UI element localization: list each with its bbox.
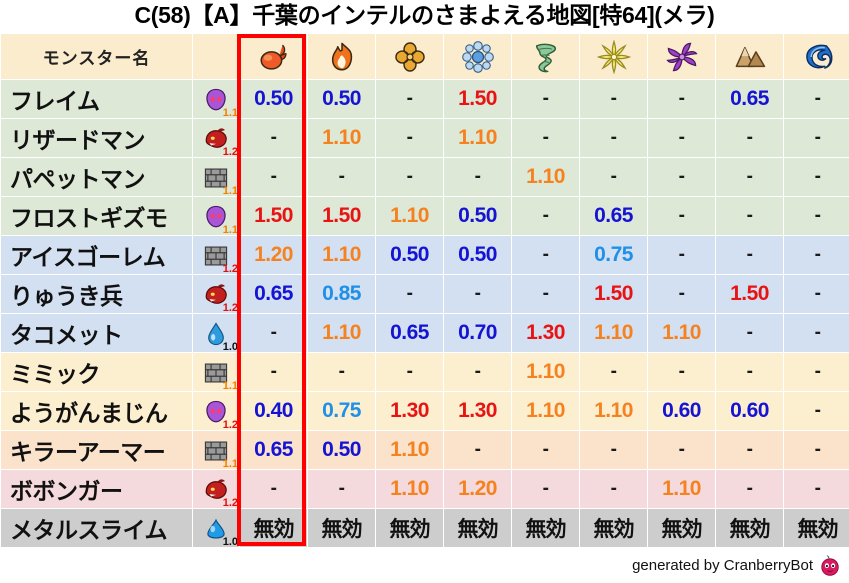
table-row: キラーアーマー 1.1 0.65 0.50 1.10 - - - - - - (1, 431, 849, 469)
monster-name: パペットマン (1, 158, 192, 196)
column-header-doruma[interactable] (648, 34, 715, 79)
type-multiplier: 1.1 (223, 225, 238, 236)
resist-cell: 1.10 (376, 470, 443, 508)
resist-cell: 0.75 (580, 236, 647, 274)
resist-cell: 0.50 (240, 80, 307, 118)
mountain-icon (733, 40, 767, 74)
resist-cell: - (716, 197, 783, 235)
column-header-io[interactable] (376, 34, 443, 79)
monster-name: タコメット (1, 314, 192, 352)
monster-name: リザードマン (1, 119, 192, 157)
resist-cell: - (784, 314, 849, 352)
resist-cell: - (648, 158, 715, 196)
wave-icon (801, 40, 835, 74)
resist-cell: 0.50 (444, 236, 511, 274)
resist-cell: - (580, 80, 647, 118)
resist-cell: 1.10 (512, 158, 579, 196)
table-header-row: モンスター名 (1, 34, 849, 79)
resistance-table: モンスター名 (0, 33, 849, 548)
monster-name: アイスゴーレム (1, 236, 192, 274)
resist-cell: - (240, 470, 307, 508)
resist-cell: - (648, 119, 715, 157)
column-header-mera[interactable] (240, 34, 307, 79)
table-row: ようがんまじん 1.2 0.40 0.75 1.30 1.30 1.10 1.1… (1, 392, 849, 430)
monster-name: りゅうき兵 (1, 275, 192, 313)
monster-name: キラーアーマー (1, 431, 192, 469)
resist-cell: - (580, 119, 647, 157)
column-header-dein[interactable] (580, 34, 647, 79)
type-multiplier: 1.2 (223, 498, 238, 509)
column-header-jibaria[interactable] (716, 34, 783, 79)
table-row: フレイム 1.1 0.50 0.50 - 1.50 - - - 0.65 - (1, 80, 849, 118)
monster-type-cell: 1.0 (193, 314, 239, 352)
monster-resistance-chart: C(58)【A】千葉のインテルのさまよえる地図[特64](メラ) モンスター名 (0, 0, 849, 583)
type-multiplier: 1.1 (223, 108, 238, 119)
resist-cell: - (716, 353, 783, 391)
resist-cell: - (716, 431, 783, 469)
resist-cell: - (512, 236, 579, 274)
resist-cell: 0.60 (648, 392, 715, 430)
column-header-bagi[interactable] (512, 34, 579, 79)
monster-type-cell: 1.2 (193, 119, 239, 157)
resist-cell: - (716, 470, 783, 508)
resist-cell: 1.20 (444, 470, 511, 508)
footer-text: generated by CranberryBot (632, 557, 813, 574)
resist-cell: - (716, 119, 783, 157)
resist-cell: 1.30 (376, 392, 443, 430)
resist-cell: 1.10 (648, 470, 715, 508)
resist-cell: 無効 (716, 509, 783, 547)
table-body: フレイム 1.1 0.50 0.50 - 1.50 - - - 0.65 - リ… (1, 80, 849, 547)
resist-cell: 1.50 (580, 275, 647, 313)
resist-cell: - (648, 353, 715, 391)
tornado-icon (529, 40, 563, 74)
resist-cell: 0.70 (444, 314, 511, 352)
meteor-fire-icon (257, 40, 291, 74)
resist-cell: - (784, 470, 849, 508)
resist-cell: 1.10 (648, 314, 715, 352)
page-title: C(58)【A】千葉のインテルのさまよえる地図[特64](メラ) (0, 0, 849, 33)
resist-cell: 無効 (512, 509, 579, 547)
monster-type-cell: 1.2 (193, 392, 239, 430)
resist-cell: 無効 (784, 509, 849, 547)
snowflake-icon (461, 40, 495, 74)
burst-icon (393, 40, 427, 74)
resist-cell: 0.60 (716, 392, 783, 430)
resist-cell: - (784, 392, 849, 430)
resist-cell: - (444, 431, 511, 469)
resist-cell: 1.20 (240, 236, 307, 274)
column-header-hyado[interactable] (444, 34, 511, 79)
resist-cell: - (308, 353, 375, 391)
resist-cell: 0.50 (444, 197, 511, 235)
resist-cell: - (716, 236, 783, 274)
monster-type-cell: 1.1 (193, 158, 239, 196)
resist-cell: - (784, 236, 849, 274)
resist-cell: - (240, 158, 307, 196)
resist-cell: - (444, 275, 511, 313)
table-row: フロストギズモ 1.1 1.50 1.50 1.10 0.50 - 0.65 -… (1, 197, 849, 235)
type-multiplier: 1.2 (223, 264, 238, 275)
type-multiplier: 1.2 (223, 303, 238, 314)
resist-cell: 1.10 (512, 392, 579, 430)
type-multiplier: 1.1 (223, 186, 238, 197)
column-header-monster-name: モンスター名 (1, 34, 192, 79)
resist-cell: - (784, 275, 849, 313)
monster-name: ボボンガー (1, 470, 192, 508)
resist-cell: - (308, 158, 375, 196)
resist-cell: - (308, 470, 375, 508)
resist-cell: - (512, 80, 579, 118)
monster-type-cell: 1.1 (193, 80, 239, 118)
monster-name: フレイム (1, 80, 192, 118)
monster-type-cell: 1.1 (193, 353, 239, 391)
resist-cell: 0.85 (308, 275, 375, 313)
resist-cell: - (784, 158, 849, 196)
type-multiplier: 1.1 (223, 459, 238, 470)
resist-cell: - (784, 119, 849, 157)
resist-cell: - (376, 158, 443, 196)
resist-cell: - (784, 353, 849, 391)
type-multiplier: 1.0 (223, 537, 238, 548)
resist-cell: 無効 (376, 509, 443, 547)
resist-cell: 0.65 (240, 275, 307, 313)
resist-cell: 0.65 (376, 314, 443, 352)
resist-cell: - (444, 353, 511, 391)
flame-icon (325, 40, 359, 74)
resist-cell: - (580, 158, 647, 196)
resist-cell: 1.50 (716, 275, 783, 313)
wind-swirl-icon (665, 40, 699, 74)
resist-cell: - (648, 80, 715, 118)
resist-cell: - (376, 353, 443, 391)
resist-cell: - (784, 431, 849, 469)
resist-cell: - (444, 158, 511, 196)
table-row: ミミック 1.1 - - - - 1.10 - - - - (1, 353, 849, 391)
resist-cell: 1.10 (444, 119, 511, 157)
resist-cell: - (376, 80, 443, 118)
resist-cell: - (512, 119, 579, 157)
resist-cell: 1.10 (376, 197, 443, 235)
column-header-type-spacer (193, 34, 239, 79)
resist-cell: 1.50 (444, 80, 511, 118)
resist-cell: - (376, 275, 443, 313)
resist-cell: - (716, 158, 783, 196)
resist-cell: - (580, 431, 647, 469)
column-header-medoroa[interactable] (784, 34, 849, 79)
resist-cell: 無効 (444, 509, 511, 547)
resist-cell: - (240, 119, 307, 157)
resist-cell: 1.30 (512, 314, 579, 352)
resist-cell: 0.65 (716, 80, 783, 118)
resist-cell: - (512, 431, 579, 469)
resist-cell: 無効 (648, 509, 715, 547)
monster-type-cell: 1.2 (193, 236, 239, 274)
resist-cell: - (512, 275, 579, 313)
cranberry-icon (819, 554, 841, 576)
monster-name: メタルスライム (1, 509, 192, 547)
monster-name: ミミック (1, 353, 192, 391)
resist-cell: - (648, 236, 715, 274)
monster-name: フロストギズモ (1, 197, 192, 235)
resist-cell: 1.10 (512, 353, 579, 391)
resist-cell: - (580, 470, 647, 508)
table-row: メタルスライム 1.0 無効 無効 無効 無効 無効 無効 無効 無効 無効 (1, 509, 849, 547)
resist-cell: 0.50 (308, 431, 375, 469)
resist-cell: 無効 (240, 509, 307, 547)
monster-type-cell: 1.2 (193, 470, 239, 508)
resist-cell: - (240, 314, 307, 352)
table-row: アイスゴーレム 1.2 1.20 1.10 0.50 0.50 - 0.75 -… (1, 236, 849, 274)
resist-cell: 1.10 (580, 314, 647, 352)
resist-cell: 1.50 (308, 197, 375, 235)
resist-cell: - (376, 119, 443, 157)
resist-cell: 1.50 (240, 197, 307, 235)
resist-cell: - (512, 197, 579, 235)
resist-cell: - (716, 314, 783, 352)
resist-cell: - (240, 353, 307, 391)
resist-cell: 1.10 (308, 236, 375, 274)
table-row: リザードマン 1.2 - 1.10 - 1.10 - - - - - (1, 119, 849, 157)
monster-type-cell: 1.1 (193, 197, 239, 235)
resist-cell: 1.10 (580, 392, 647, 430)
type-multiplier: 1.2 (223, 147, 238, 158)
resist-cell: 1.10 (308, 119, 375, 157)
sparkle-icon (597, 40, 631, 74)
monster-type-cell: 1.2 (193, 275, 239, 313)
resist-cell: 0.65 (240, 431, 307, 469)
resist-cell: - (648, 431, 715, 469)
table-row: パペットマン 1.1 - - - - 1.10 - - - - (1, 158, 849, 196)
monster-type-cell: 1.0 (193, 509, 239, 547)
monster-type-cell: 1.1 (193, 431, 239, 469)
table-row: ボボンガー 1.2 - - 1.10 1.20 - - 1.10 - - (1, 470, 849, 508)
resist-cell: 無効 (308, 509, 375, 547)
resist-cell: 0.50 (376, 236, 443, 274)
resist-cell: - (784, 80, 849, 118)
resist-cell: 1.30 (444, 392, 511, 430)
resist-cell: 0.65 (580, 197, 647, 235)
resist-cell: 0.40 (240, 392, 307, 430)
resist-cell: 0.50 (308, 80, 375, 118)
resist-cell: - (784, 197, 849, 235)
resist-cell: 1.10 (376, 431, 443, 469)
table-row: タコメット 1.0 - 1.10 0.65 0.70 1.30 1.10 1.1… (1, 314, 849, 352)
resist-cell: - (512, 470, 579, 508)
monster-name: ようがんまじん (1, 392, 192, 430)
type-multiplier: 1.1 (223, 381, 238, 392)
type-multiplier: 1.0 (223, 342, 238, 353)
table-row: りゅうき兵 1.2 0.65 0.85 - - - 1.50 - 1.50 - (1, 275, 849, 313)
resist-cell: - (648, 197, 715, 235)
resist-cell: 無効 (580, 509, 647, 547)
column-header-gira[interactable] (308, 34, 375, 79)
type-multiplier: 1.2 (223, 420, 238, 431)
resist-cell: - (648, 275, 715, 313)
resist-cell: 0.75 (308, 392, 375, 430)
resist-cell: 1.10 (308, 314, 375, 352)
resist-cell: - (580, 353, 647, 391)
footer: generated by CranberryBot (632, 551, 841, 579)
